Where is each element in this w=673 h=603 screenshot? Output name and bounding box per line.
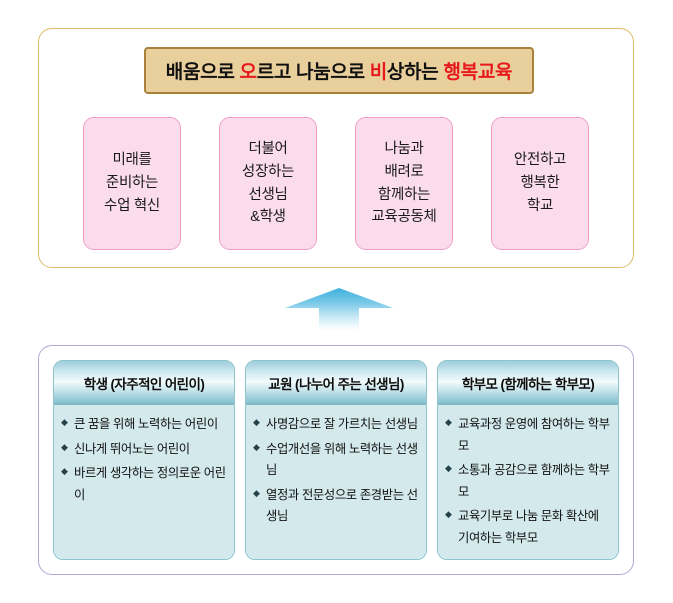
list-item-label: 교육과정 운영에 참여하는 학부모 bbox=[458, 417, 610, 453]
members-panel: 학생 (자주적인 어린이)◆큰 꿈을 위해 노력하는 어린이◆신나게 뛰어노는 … bbox=[38, 345, 634, 575]
list-item: ◆신나게 뛰어노는 어린이 bbox=[61, 439, 227, 461]
arrow-shape bbox=[285, 288, 393, 330]
member-list: ◆큰 꿈을 위해 노력하는 어린이◆신나게 뛰어노는 어린이◆바르게 생각하는 … bbox=[61, 414, 227, 506]
pillar-line: 배려로 bbox=[384, 161, 423, 184]
member-list: ◆교육과정 운영에 참여하는 학부모◆소통과 공감으로 함께하는 학부모◆교육기… bbox=[445, 414, 611, 549]
diamond-bullet-icon: ◆ bbox=[61, 463, 68, 480]
list-item-label: 소통과 공감으로 함께하는 학부모 bbox=[458, 463, 610, 499]
diamond-bullet-icon: ◆ bbox=[445, 414, 452, 431]
member-card-header-2: 교원 (나누어 주는 선생님) bbox=[246, 361, 426, 405]
banner-segment-0: 배움으로 bbox=[166, 62, 240, 83]
banner-segment-3: 비 bbox=[370, 62, 387, 83]
list-item: ◆열정과 전문성으로 존경받는 선생님 bbox=[253, 485, 419, 528]
vision-pillar-2: 더불어성장하는선생님&학생 bbox=[219, 117, 317, 250]
member-card-body-3: ◆교육과정 운영에 참여하는 학부모◆소통과 공감으로 함께하는 학부모◆교육기… bbox=[438, 405, 618, 559]
member-card-title: 교원 (나누어 주는 선생님) bbox=[268, 373, 403, 393]
list-item-label: 열정과 전문성으로 존경받는 선생님 bbox=[266, 488, 418, 524]
list-item: ◆소통과 공감으로 함께하는 학부모 bbox=[445, 460, 611, 503]
list-item-label: 큰 꿈을 위해 노력하는 어린이 bbox=[74, 417, 218, 431]
list-item: ◆교육기부로 나눔 문화 확산에 기여하는 학부모 bbox=[445, 506, 611, 549]
list-item: ◆사명감으로 잘 가르치는 선생님 bbox=[253, 414, 419, 436]
list-item: ◆수업개선을 위해 노력하는 선생님 bbox=[253, 439, 419, 482]
vision-pillar-4: 안전하고행복한학교 bbox=[491, 117, 589, 250]
member-card-title: 학부모 (함께하는 학부모) bbox=[462, 373, 594, 393]
vision-panel: 배움으로 오르고 나눔으로 비상하는 행복교육 미래를준비하는수업 혁신더불어성… bbox=[38, 28, 634, 268]
banner-segment-5: 행복교육 bbox=[443, 62, 512, 83]
vision-pillar-3: 나눔과배려로함께하는교육공동체 bbox=[355, 117, 453, 250]
diamond-bullet-icon: ◆ bbox=[445, 460, 452, 477]
member-card-title: 학생 (자주적인 어린이) bbox=[84, 373, 204, 393]
list-item: ◆큰 꿈을 위해 노력하는 어린이 bbox=[61, 414, 227, 436]
banner-segment-1: 오 bbox=[240, 62, 257, 83]
member-card-2: 교원 (나누어 주는 선생님)◆사명감으로 잘 가르치는 선생님◆수업개선을 위… bbox=[245, 360, 427, 560]
pillar-line: 행복한 bbox=[520, 172, 559, 195]
member-list: ◆사명감으로 잘 가르치는 선생님◆수업개선을 위해 노력하는 선생님◆열정과 … bbox=[253, 414, 419, 528]
pillar-line: 수업 혁신 bbox=[104, 195, 160, 218]
pillar-line: 준비하는 bbox=[106, 172, 158, 195]
list-item: ◆바르게 생각하는 정의로운 어린이 bbox=[61, 463, 227, 506]
banner-segment-2: 르고 나눔으로 bbox=[257, 62, 370, 83]
pillar-line: 함께하는 bbox=[378, 184, 430, 207]
diamond-bullet-icon: ◆ bbox=[445, 506, 452, 523]
list-item-label: 사명감으로 잘 가르치는 선생님 bbox=[266, 417, 418, 431]
diamond-bullet-icon: ◆ bbox=[61, 414, 68, 431]
diamond-bullet-icon: ◆ bbox=[253, 485, 260, 502]
pillar-line: 선생님 bbox=[248, 184, 287, 207]
member-card-body-2: ◆사명감으로 잘 가르치는 선생님◆수업개선을 위해 노력하는 선생님◆열정과 … bbox=[246, 405, 426, 559]
pillar-line: &학생 bbox=[250, 206, 285, 229]
member-card-1: 학생 (자주적인 어린이)◆큰 꿈을 위해 노력하는 어린이◆신나게 뛰어노는 … bbox=[53, 360, 235, 560]
diamond-bullet-icon: ◆ bbox=[253, 414, 260, 431]
flow-arrow-up bbox=[283, 286, 395, 332]
pillar-line: 더불어 bbox=[248, 138, 287, 161]
diamond-bullet-icon: ◆ bbox=[61, 439, 68, 456]
member-card-header-1: 학생 (자주적인 어린이) bbox=[54, 361, 234, 405]
list-item-label: 바르게 생각하는 정의로운 어린이 bbox=[74, 466, 226, 502]
pillar-line: 성장하는 bbox=[242, 161, 294, 184]
list-item-label: 수업개선을 위해 노력하는 선생님 bbox=[266, 442, 418, 478]
pillar-line: 미래를 bbox=[112, 149, 151, 172]
banner-segment-4: 상하는 bbox=[387, 62, 444, 83]
pillar-line: 안전하고 bbox=[514, 149, 566, 172]
pillar-line: 학교 bbox=[527, 195, 553, 218]
vision-pillar-row: 미래를준비하는수업 혁신더불어성장하는선생님&학생나눔과배려로함께하는교육공동체… bbox=[39, 117, 633, 257]
vision-banner: 배움으로 오르고 나눔으로 비상하는 행복교육 bbox=[144, 47, 534, 94]
member-card-body-1: ◆큰 꿈을 위해 노력하는 어린이◆신나게 뛰어노는 어린이◆바르게 생각하는 … bbox=[54, 405, 234, 559]
list-item: ◆교육과정 운영에 참여하는 학부모 bbox=[445, 414, 611, 457]
pillar-line: 교육공동체 bbox=[371, 206, 436, 229]
vision-banner-text: 배움으로 오르고 나눔으로 비상하는 행복교육 bbox=[166, 57, 512, 84]
member-card-header-3: 학부모 (함께하는 학부모) bbox=[438, 361, 618, 405]
vision-pillar-1: 미래를준비하는수업 혁신 bbox=[83, 117, 181, 250]
list-item-label: 교육기부로 나눔 문화 확산에 기여하는 학부모 bbox=[458, 509, 599, 545]
diamond-bullet-icon: ◆ bbox=[253, 439, 260, 456]
pillar-line: 나눔과 bbox=[384, 138, 423, 161]
list-item-label: 신나게 뛰어노는 어린이 bbox=[74, 442, 190, 456]
member-card-3: 학부모 (함께하는 학부모)◆교육과정 운영에 참여하는 학부모◆소통과 공감으… bbox=[437, 360, 619, 560]
members-row: 학생 (자주적인 어린이)◆큰 꿈을 위해 노력하는 어린이◆신나게 뛰어노는 … bbox=[53, 360, 619, 560]
